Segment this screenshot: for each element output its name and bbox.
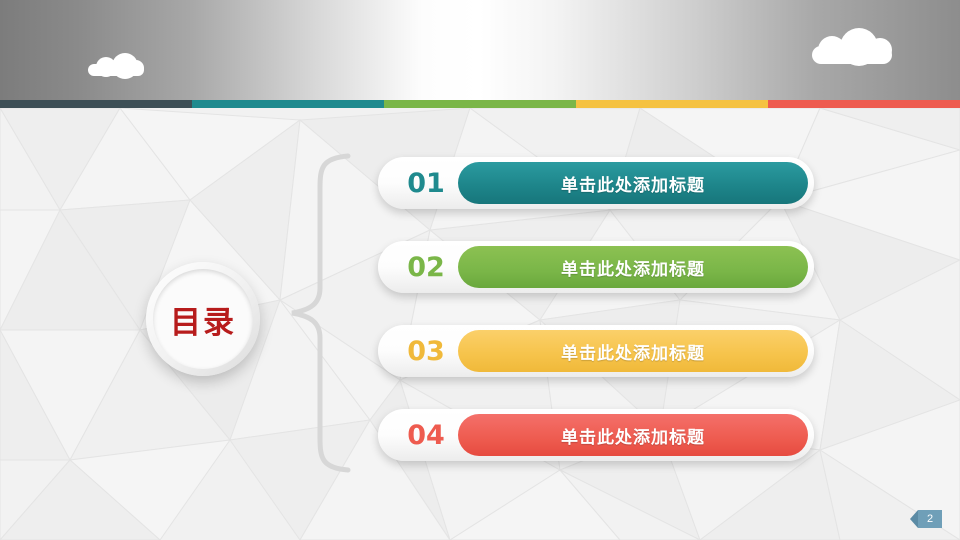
item-number: 04 [394,409,458,461]
band-segment-dark [0,100,192,108]
page-number-tail [910,510,918,528]
item-number: 03 [394,325,458,377]
item-title-bar[interactable]: 单击此处添加标题 [458,246,808,288]
color-band [0,100,960,108]
list-item[interactable]: 01 单击此处添加标题 [378,157,814,209]
item-number: 02 [394,241,458,293]
list-item[interactable]: 02 单击此处添加标题 [378,241,814,293]
toc-circle-badge: 目录 [146,262,260,376]
curly-brace-icon [282,152,356,474]
cloud-icon [812,30,892,60]
list-item[interactable]: 03 单击此处添加标题 [378,325,814,377]
toc-circle-inner: 目录 [153,269,253,369]
band-segment-amber [576,100,768,108]
toc-title: 目录 [170,297,236,342]
page-number: 2 [918,510,942,528]
band-segment-red [768,100,960,108]
cloud-icon [88,56,144,74]
item-title-bar[interactable]: 单击此处添加标题 [458,330,808,372]
item-number: 01 [394,157,458,209]
item-title-bar[interactable]: 单击此处添加标题 [458,162,808,204]
band-segment-green [384,100,576,108]
slide-header [0,0,960,100]
band-segment-teal [192,100,384,108]
list-item[interactable]: 04 单击此处添加标题 [378,409,814,461]
slide-canvas: 目录 01 单击此处添加标题 02 单击此处添加标题 03 单击此处添加标题 0… [0,0,960,540]
toc-item-list: 01 单击此处添加标题 02 单击此处添加标题 03 单击此处添加标题 04 单… [378,157,814,493]
item-title-bar[interactable]: 单击此处添加标题 [458,414,808,456]
